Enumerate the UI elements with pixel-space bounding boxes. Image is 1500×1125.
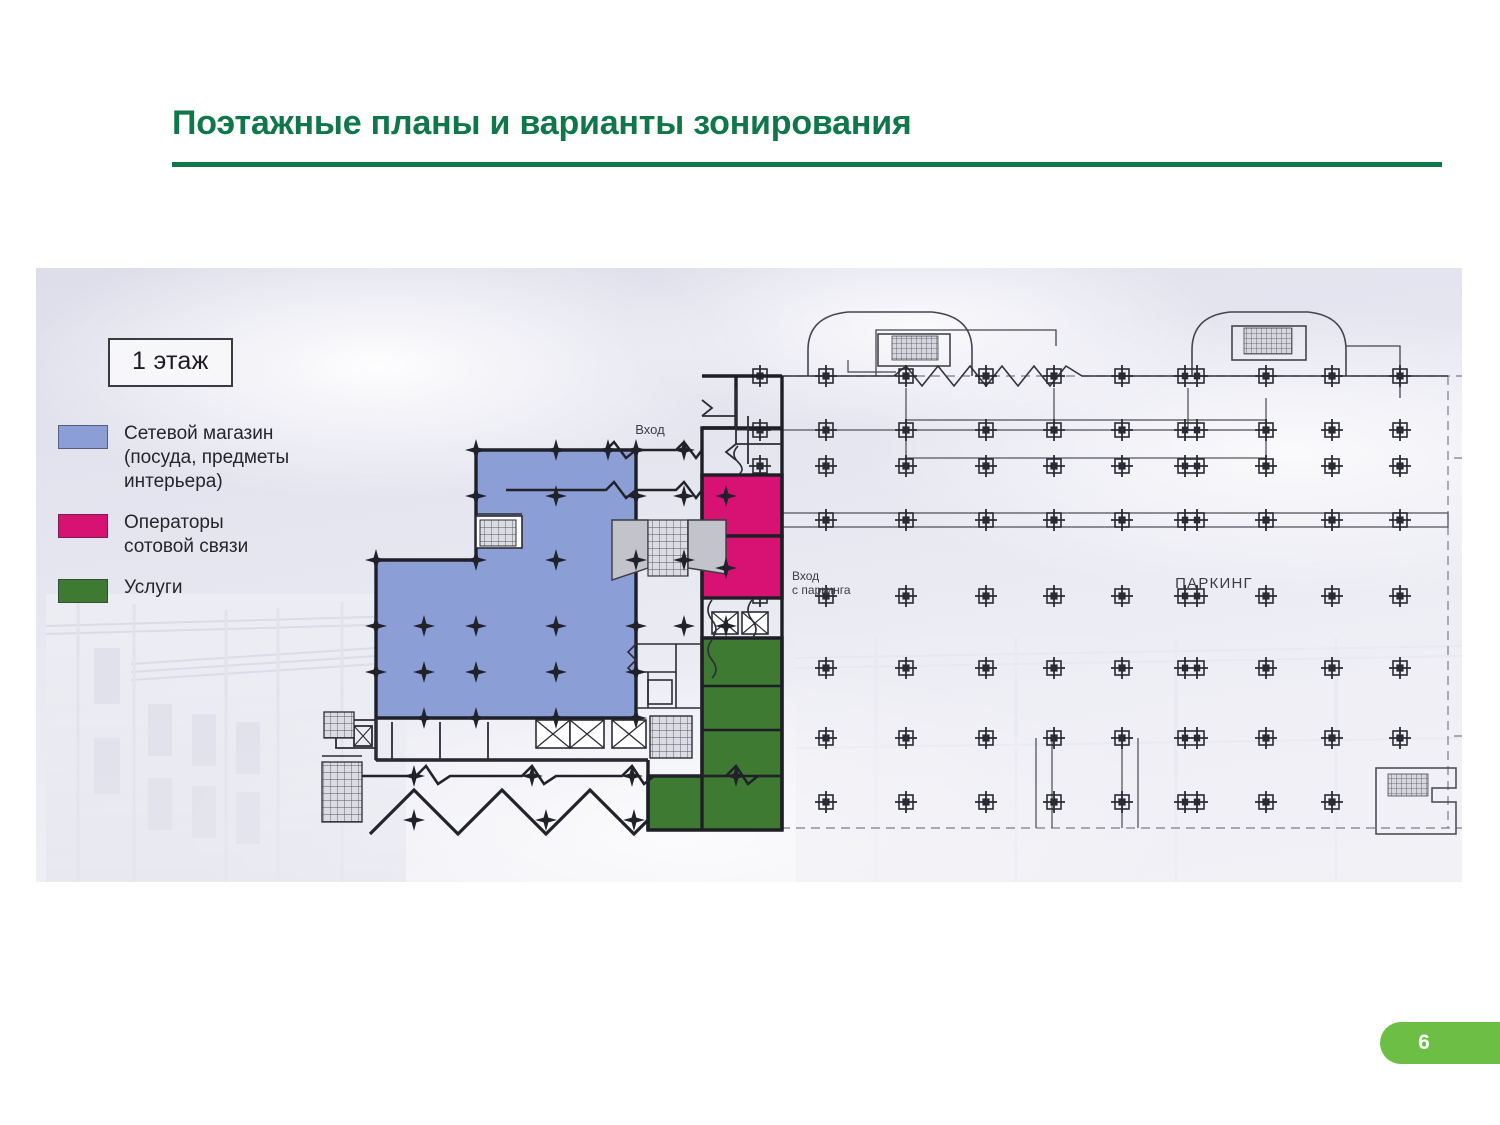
legend-swatch-retail-chain-store: [58, 425, 108, 449]
legend-item-retail-chain-store: Сетевой магазин (посуда, предметы интерь…: [58, 422, 358, 494]
title-underline: [172, 162, 1442, 167]
parking-label: ПАРКИНГ: [1175, 575, 1253, 592]
page-title: Поэтажные планы и варианты зонирования: [172, 104, 912, 143]
entrance-from-parking-label-2: с паркинга: [792, 583, 851, 597]
plan-legend: Сетевой магазин (посуда, предметы интерь…: [58, 422, 358, 620]
stair-center-south: [650, 716, 692, 758]
mall-building: Вход Вход с паркинга: [322, 376, 851, 834]
back-of-house-rooms: [628, 644, 702, 708]
parking-dome-left: [808, 312, 1056, 376]
stair-blue-nw: [476, 514, 522, 548]
legend-label-services: Услуги: [124, 576, 182, 600]
parking-zone: ПАРКИНГ: [736, 312, 1462, 834]
escalator-center: [612, 520, 726, 580]
legend-item-services: Услуги: [58, 576, 358, 603]
lift-boxes-green-head: [712, 612, 768, 634]
legend-swatch-services: [58, 579, 108, 603]
page-number: 6: [1418, 1031, 1462, 1055]
sawtooth-south-wall: [370, 790, 648, 834]
parking-dome-right: [1192, 312, 1400, 398]
entrance-from-parking-label-1: Вход: [792, 569, 819, 583]
page-number-badge: 6: [1380, 1022, 1500, 1064]
stair-sw-2: [322, 756, 362, 822]
legend-label-retail-chain-store: Сетевой магазин (посуда, предметы интерь…: [124, 422, 289, 494]
floor-plan-figure: ПАРКИНГ: [36, 268, 1462, 882]
legend-label-mobile-operators: Операторы сотовой связи: [124, 511, 248, 559]
legend-item-mobile-operators: Операторы сотовой связи: [58, 511, 358, 559]
entrance-label: Вход: [635, 422, 665, 437]
stair-sw-1: [324, 712, 354, 738]
legend-swatch-mobile-operators: [58, 514, 108, 538]
floor-badge: 1 этаж: [108, 338, 233, 387]
north-rooms: [702, 388, 782, 464]
parking-stair-br: [1376, 768, 1456, 834]
